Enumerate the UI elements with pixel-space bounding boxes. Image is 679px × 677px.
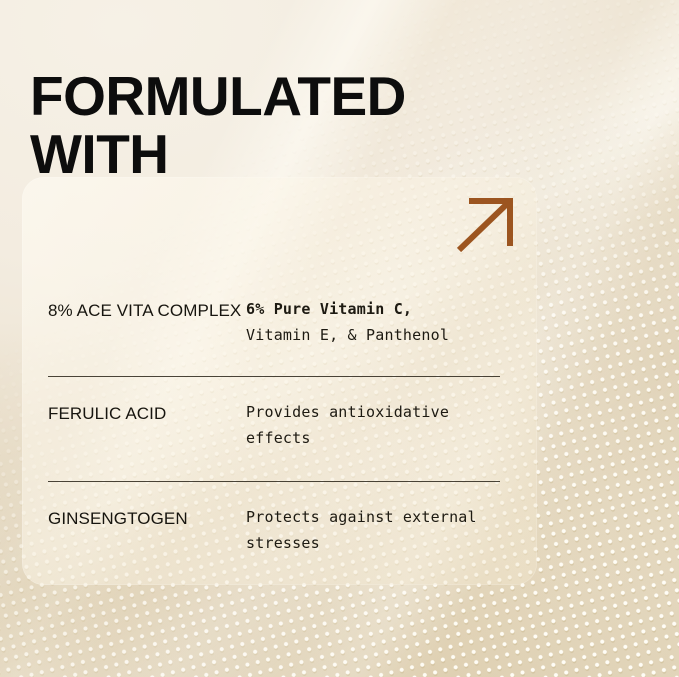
ingredient-list: 8% ACE VITA COMPLEX 6% Pure Vitamin C, V… <box>48 296 500 556</box>
ingredient-description: Protects against external stresses <box>246 504 500 556</box>
ingredient-description: 6% Pure Vitamin C, Vitamin E, & Pantheno… <box>246 296 500 348</box>
ingredient-name: GINSENGTOGEN <box>48 504 246 534</box>
ingredient-name: FERULIC ACID <box>48 399 246 429</box>
row-divider <box>48 481 500 482</box>
list-item: FERULIC ACID Provides antioxidative effe… <box>48 399 500 451</box>
arrow-up-right-icon[interactable] <box>455 196 517 254</box>
ingredient-name: 8% ACE VITA COMPLEX <box>48 296 246 326</box>
row-divider <box>48 376 500 377</box>
list-item: 8% ACE VITA COMPLEX 6% Pure Vitamin C, V… <box>48 296 500 348</box>
spacer <box>48 377 500 399</box>
ingredient-description-normal: Protects against external stresses <box>246 504 500 556</box>
spacer <box>48 451 500 481</box>
spacer <box>48 348 500 376</box>
spacer <box>48 482 500 504</box>
ingredient-description: Provides antioxidative effects <box>246 399 500 451</box>
ingredient-description-strong: 6% Pure Vitamin C, <box>246 296 500 322</box>
page-title: Formulated with <box>30 67 500 183</box>
ingredient-description-normal: Provides antioxidative effects <box>246 399 500 451</box>
list-item: GINSENGTOGEN Protects against external s… <box>48 504 500 556</box>
ingredient-description-normal: Vitamin E, & Panthenol <box>246 322 500 348</box>
poster-canvas: Formulated with 8% ACE VITA COMPLEX 6% P… <box>0 0 679 677</box>
